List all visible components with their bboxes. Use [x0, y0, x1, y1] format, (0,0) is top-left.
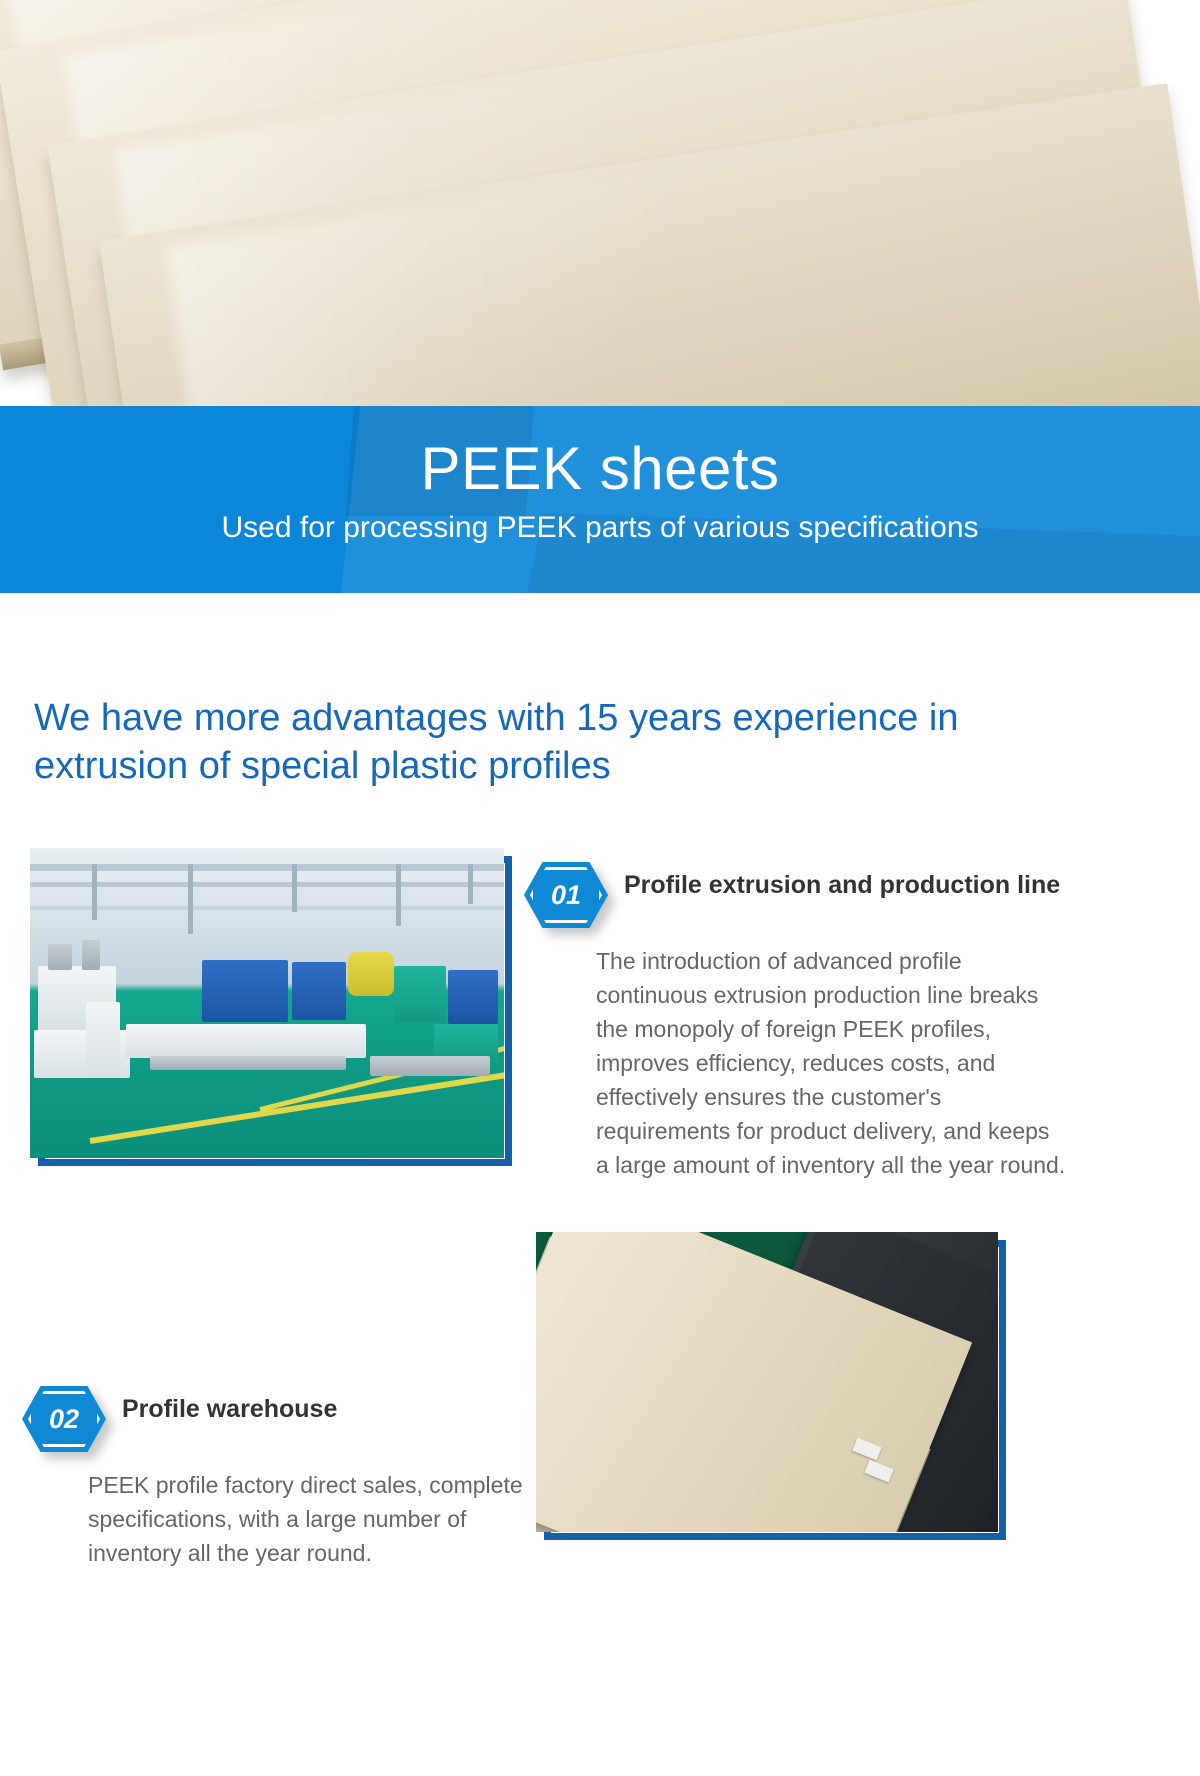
- hero-product-photo: [0, 0, 1200, 470]
- feature-02-text-block: 02 Profile warehouse PEEK profile factor…: [22, 1384, 522, 1570]
- feature-01-number: 01: [524, 862, 608, 928]
- feature-01-photo: [30, 848, 504, 1158]
- factory-photo: [30, 848, 504, 1158]
- feature-02-heading: Profile warehouse: [122, 1384, 337, 1426]
- feature-02-number: 02: [22, 1386, 106, 1452]
- section-headline: We have more advantages with 15 years ex…: [34, 694, 1064, 790]
- feature-01-number-badge: 01: [524, 862, 608, 928]
- feature-01-text-block: 01 Profile extrusion and production line…: [524, 860, 1070, 1182]
- feature-02-photo: [536, 1232, 998, 1532]
- banner-title: PEEK sheets: [0, 434, 1200, 504]
- banner-subtitle: Used for processing PEEK parts of variou…: [0, 508, 1200, 548]
- hero-banner: PEEK sheets Used for processing PEEK par…: [0, 406, 1200, 593]
- feature-01-body: The introduction of advanced profile con…: [596, 944, 1066, 1182]
- product-detail-page: PEEK sheets Used for processing PEEK par…: [0, 0, 1200, 1776]
- feature-01-heading: Profile extrusion and production line: [624, 860, 1060, 902]
- warehouse-sheets-photo: [536, 1232, 998, 1532]
- feature-02-number-badge: 02: [22, 1386, 106, 1452]
- feature-02-body: PEEK profile factory direct sales, compl…: [88, 1468, 528, 1570]
